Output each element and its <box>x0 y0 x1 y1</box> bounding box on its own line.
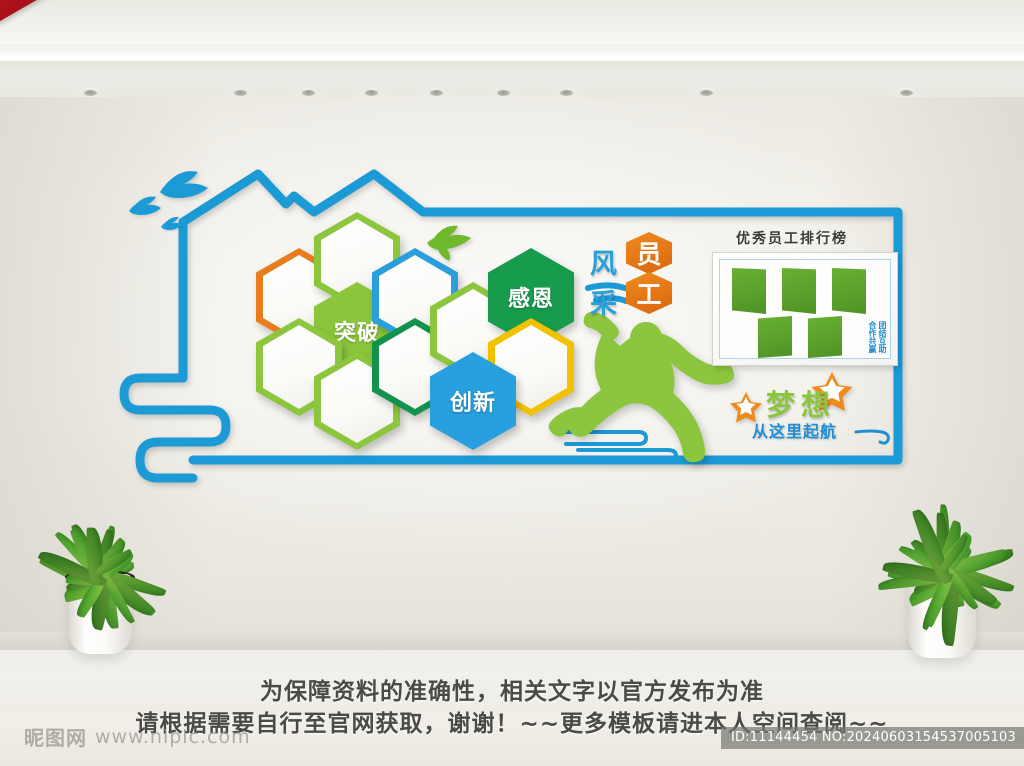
ranking-board-inner: 团结互助 合作共赢 <box>719 259 891 359</box>
headline-char-feng: 风 <box>590 242 617 281</box>
footer-line-1: 为保障资料的准确性，相关文字以官方发布为准 <box>0 672 1024 706</box>
ceiling-lip <box>0 61 1024 98</box>
downlight-icon <box>365 90 378 96</box>
potted-plant-left <box>10 470 190 655</box>
screenshot-stage: 突破感恩创新 风 采 员 工 优秀员工排行榜 团结互助 合作共赢 梦想 从这里起… <box>0 0 1024 766</box>
watermark-brand: 昵图网 <box>24 722 87 751</box>
dream-swirl-icon <box>854 422 894 442</box>
employee-photo-slot[interactable] <box>732 268 766 314</box>
downlight-icon <box>900 90 913 96</box>
bird-large-icon <box>160 171 208 198</box>
downlight-icon <box>84 90 97 96</box>
hex-chuangxin-label: 创新 <box>430 352 516 450</box>
downlight-icon <box>302 90 315 96</box>
ranking-board[interactable]: 团结互助 合作共赢 <box>712 252 898 366</box>
dream-subtitle: 从这里起航 <box>752 418 837 442</box>
employee-photo-slot[interactable] <box>758 316 792 358</box>
ranking-vertical-text-right: 团结互助 <box>877 321 886 353</box>
downlight-icon <box>430 90 443 96</box>
wall-culture-artwork: 突破感恩创新 风 采 员 工 优秀员工排行榜 团结互助 合作共赢 梦想 从这里起… <box>118 160 908 480</box>
downlight-icon <box>497 90 510 96</box>
employee-photo-slot[interactable] <box>782 268 816 314</box>
ranking-board-title: 优秀员工排行榜 <box>736 228 848 248</box>
running-man-silhouette-icon <box>549 312 734 462</box>
downlight-icon <box>560 90 573 96</box>
employee-photo-slot[interactable] <box>808 316 842 358</box>
downlight-icon <box>234 90 247 96</box>
headline-char-cai: 采 <box>590 282 617 321</box>
employee-photo-slot[interactable] <box>832 268 866 314</box>
ranking-vertical-text-left: 合作共赢 <box>867 321 876 353</box>
plant-leaf <box>86 528 102 585</box>
ceiling-slab <box>0 0 1024 44</box>
hex-chuangxin[interactable]: 创新 <box>430 352 516 450</box>
downlight-icon <box>700 90 713 96</box>
potted-plant-right <box>852 450 1024 655</box>
watermark-url: www.nipic.com <box>95 726 251 748</box>
bird-small-icon <box>129 197 161 215</box>
image-id-bar: ID:11144454 NO:20240603154537005103 <box>721 727 1024 749</box>
watermark: 昵图网 www.nipic.com <box>24 722 251 751</box>
